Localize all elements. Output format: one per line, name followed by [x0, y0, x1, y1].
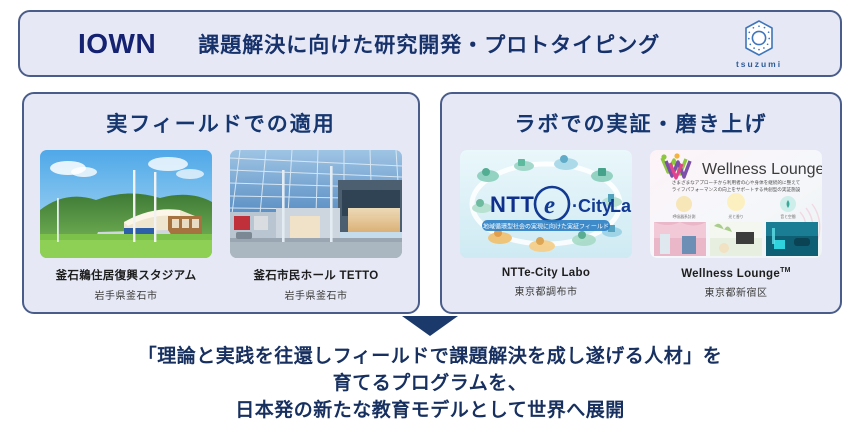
bottom-message-line-1: 「理論と実践を往還しフィールドで課題解決を成し遂げる人材」を: [0, 344, 860, 371]
tsuzumi-logo-block: tsuzumi: [720, 18, 798, 69]
card-caption-text: Wellness Lounge: [681, 268, 780, 280]
svg-text:Wellness Lounge: Wellness Lounge: [702, 161, 822, 178]
trademark-mark: TM: [780, 267, 791, 274]
kamaishi-unosumai-stadium-photo: [40, 150, 212, 258]
card-tetto-hall[interactable]: 釜石市民ホール TETTO 岩手県釜石市: [230, 150, 402, 302]
svg-text:Labo: Labo: [610, 196, 632, 216]
svg-text:呼吸器系計測: 呼吸器系計測: [673, 214, 696, 219]
card-location: 岩手県釜石市: [40, 287, 212, 302]
svg-text:地域循環型社会の実現に向けた実証フィールド: 地域循環型社会の実現に向けた実証フィールド: [483, 223, 609, 231]
panel-field-application: 実フィールドでの適用: [22, 92, 420, 314]
header-panel: IOWN 課題解決に向けた研究開発・プロトタイピング tsuzumi: [18, 10, 842, 77]
card-location: 岩手県釜石市: [230, 287, 402, 302]
card-wellness-lounge[interactable]: Wellness Lounge さまざまなアプローチから利用者の心や身体を継続的…: [650, 150, 822, 299]
card-stadium[interactable]: 釜石鵜住居復興スタジアム 岩手県釜石市: [40, 150, 212, 302]
down-arrow-icon: [402, 316, 458, 336]
card-caption: 釜石市民ホール TETTO: [230, 267, 402, 283]
panel-title-right: ラボでの実証・磨き上げ: [442, 108, 840, 138]
svg-text:さまざまなアプローチから利用者の心や身体を継続的に整えて: さまざまなアプローチから利用者の心や身体を継続的に整えて: [672, 179, 801, 186]
iown-logo: IOWN: [78, 28, 156, 60]
card-location: 東京都新宿区: [650, 284, 822, 299]
bottom-message: 「理論と実践を往還しフィールドで課題解決を成し遂げる人材」を 育てるプログラムを…: [0, 344, 860, 425]
kamaishi-civic-hall-tetto-photo: [230, 150, 402, 258]
svg-text:e: e: [544, 192, 555, 219]
card-ntt-e-city-labo[interactable]: NTT e ·City Labo 地域循環型社会の実現に向けた実証フィールド N…: [460, 150, 632, 299]
svg-text:NTT: NTT: [490, 192, 534, 217]
svg-text:·City: ·City: [572, 196, 612, 216]
card-caption: NTTe-City Labo: [460, 267, 632, 279]
card-caption: Wellness LoungeTM: [650, 267, 822, 280]
wellness-lounge-graphic: Wellness Lounge さまざまなアプローチから利用者の心や身体を継続的…: [650, 150, 822, 258]
card-list-left: 釜石鵜住居復興スタジアム 岩手県釜石市: [24, 150, 418, 302]
card-caption: 釜石鵜住居復興スタジアム: [40, 267, 212, 283]
svg-text:音と空間: 音と空間: [780, 214, 795, 219]
tsuzumi-hexagon-icon: [739, 18, 779, 58]
svg-text:光と香り: 光と香り: [728, 214, 743, 219]
panel-title-left: 実フィールドでの適用: [24, 108, 418, 138]
card-location: 東京都調布市: [460, 283, 632, 298]
bottom-message-line-3: 日本発の新たな教育モデルとして世界へ展開: [0, 398, 860, 425]
card-list-right: NTT e ·City Labo 地域循環型社会の実現に向けた実証フィールド N…: [442, 150, 840, 299]
bottom-message-line-2: 育てるプログラムを、: [0, 371, 860, 398]
tsuzumi-wordmark: tsuzumi: [720, 59, 798, 69]
ntt-e-city-labo-graphic: NTT e ·City Labo 地域循環型社会の実現に向けた実証フィールド: [460, 150, 632, 258]
panel-lab-validation: ラボでの実証・磨き上げ: [440, 92, 842, 314]
header-tagline: 課題解決に向けた研究開発・プロトタイピング: [198, 29, 660, 59]
svg-text:ライフパフォーマンスの向上をサポートする共創型の実証施設: ライフパフォーマンスの向上をサポートする共創型の実証施設: [672, 186, 801, 193]
